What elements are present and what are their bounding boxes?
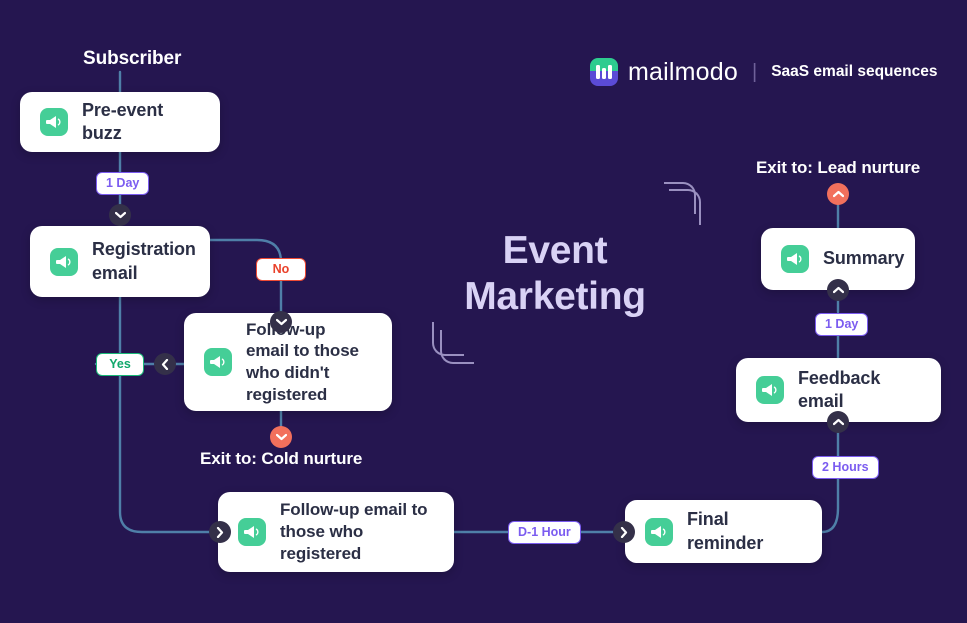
exit-label-lead-nurture: Exit to: Lead nurture (756, 158, 920, 178)
brand-tagline: SaaS email sequences (771, 64, 937, 80)
megaphone-icon (756, 376, 784, 404)
delay-badge-1day-right[interactable]: 1 Day (815, 313, 868, 336)
node-registration-email[interactable]: Registration email (30, 226, 210, 297)
mailmodo-logo-icon (590, 58, 618, 86)
chevron-down-icon (115, 211, 126, 219)
chevron-left-icon (161, 359, 169, 370)
marker-chevron-right-registered[interactable] (209, 521, 231, 543)
megaphone-icon (238, 518, 266, 546)
megaphone-icon (50, 248, 78, 276)
delay-badge-1day-top[interactable]: 1 Day (96, 172, 149, 195)
marker-chevron-up-feedback[interactable] (827, 411, 849, 433)
chevron-up-icon (833, 418, 844, 426)
node-label: Feedback email (798, 367, 921, 413)
node-label: Registration email (92, 238, 196, 284)
marker-chevron-down-registration[interactable] (109, 204, 131, 226)
marker-chevron-up-summary[interactable] (827, 279, 849, 301)
condition-badge-yes[interactable]: Yes (96, 353, 144, 376)
marker-chevron-down-followup-notreg[interactable] (270, 311, 292, 333)
node-label: Pre-event buzz (82, 99, 200, 145)
delay-badge-d-1-hour[interactable]: D-1 Hour (508, 521, 581, 544)
exit-label-cold-nurture: Exit to: Cold nurture (200, 449, 362, 469)
brand-lockup: mailmodo | SaaS email sequences (590, 58, 937, 86)
megaphone-icon (781, 245, 809, 273)
node-pre-event-buzz[interactable]: Pre-event buzz (20, 92, 220, 152)
marker-chevron-left-yes[interactable] (154, 353, 176, 375)
node-label: Summary (823, 247, 904, 270)
chevron-down-icon (276, 433, 287, 441)
brand-separator: | (748, 62, 761, 82)
marker-chevron-right-final-reminder[interactable] (613, 521, 635, 543)
node-label: Follow-up email to those who registered (280, 499, 434, 564)
node-followup-registered[interactable]: Follow-up email to those who registered (218, 492, 454, 572)
chevron-right-icon (216, 527, 224, 538)
marker-exit-cold-nurture[interactable] (270, 426, 292, 448)
megaphone-icon (204, 348, 232, 376)
chevron-up-icon (833, 190, 844, 198)
brand-name: mailmodo (628, 60, 738, 85)
node-label: Follow-up email to those who didn't regi… (246, 319, 372, 406)
node-final-reminder[interactable]: Final reminder (625, 500, 822, 563)
condition-badge-no[interactable]: No (256, 258, 306, 281)
page-title: Event Marketing (455, 228, 655, 320)
chevron-right-icon (620, 527, 628, 538)
chevron-down-icon (276, 318, 287, 326)
page-title-line1: Event (455, 228, 655, 274)
delay-badge-2-hours[interactable]: 2 Hours (812, 456, 879, 479)
megaphone-icon (40, 108, 68, 136)
flow-canvas: mailmodo | SaaS email sequences Event Ma… (0, 0, 967, 623)
corner-bracket-top-right (664, 182, 708, 224)
chevron-up-icon (833, 286, 844, 294)
megaphone-icon (645, 518, 673, 546)
entry-label-subscriber: Subscriber (83, 48, 181, 70)
node-label: Final reminder (687, 508, 802, 554)
page-title-line2: Marketing (455, 274, 655, 320)
corner-bracket-bottom-left (432, 322, 478, 368)
marker-exit-lead-nurture[interactable] (827, 183, 849, 205)
